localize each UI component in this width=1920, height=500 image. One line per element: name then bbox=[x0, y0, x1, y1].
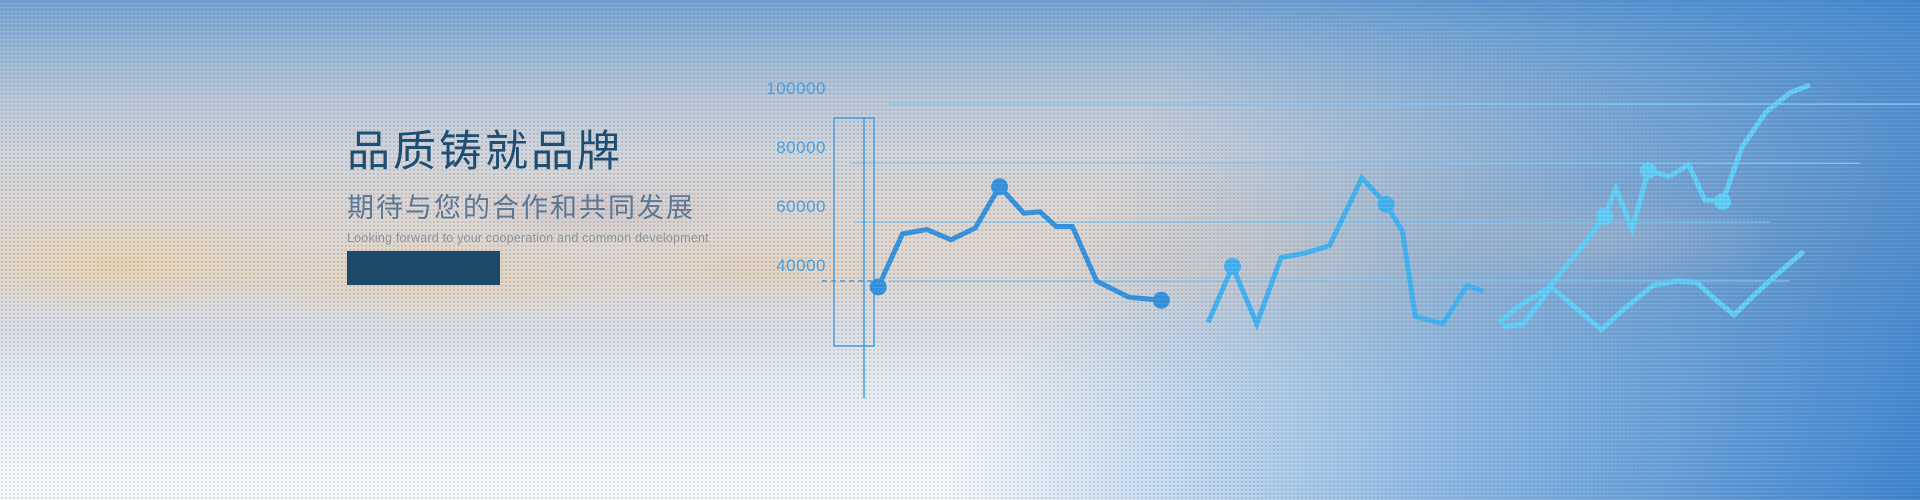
series-1-dark-blue bbox=[878, 187, 1161, 300]
banner-subtitle-en: Looking forward to your cooperation and … bbox=[347, 231, 767, 246]
axis-frame-box bbox=[834, 118, 874, 346]
series-3-light-cyan-upper-marker bbox=[1640, 162, 1657, 179]
series-3-light-cyan-upper-marker bbox=[1596, 208, 1613, 225]
statistics-chart: 100000800006000040000 bbox=[760, 0, 1920, 500]
hero-banner: 100000800006000040000 品质铸就品牌 期待与您的合作和共同发… bbox=[0, 0, 1920, 500]
chart-y-axis-labels: 100000800006000040000 bbox=[766, 79, 826, 275]
series-4-light-cyan-lower bbox=[1503, 252, 1804, 330]
series-1-dark-blue-marker bbox=[870, 278, 887, 295]
series-2-mid-blue-marker bbox=[1378, 196, 1395, 213]
chart-canvas: 100000800006000040000 bbox=[760, 0, 1920, 500]
series-1-dark-blue-marker bbox=[1153, 292, 1170, 309]
y-tick-label: 40000 bbox=[776, 256, 826, 275]
series-3-light-cyan-upper-marker bbox=[1714, 193, 1731, 210]
series-2-mid-blue-marker bbox=[1224, 258, 1241, 275]
y-tick-label: 100000 bbox=[766, 79, 826, 98]
banner-title: 品质铸就品牌 bbox=[347, 128, 767, 176]
y-tick-label: 80000 bbox=[776, 138, 826, 157]
chart-series-group bbox=[870, 85, 1810, 330]
banner-subtitle-cn: 期待与您的合作和共同发展 bbox=[347, 194, 767, 224]
series-2-mid-blue bbox=[1208, 178, 1483, 324]
series-1-dark-blue-marker bbox=[991, 178, 1008, 195]
chart-axis bbox=[834, 118, 874, 398]
banner-copy: 品质铸就品牌 期待与您的合作和共同发展 Looking forward to y… bbox=[347, 128, 767, 246]
banner-cta-button[interactable] bbox=[347, 251, 500, 285]
y-tick-label: 60000 bbox=[776, 197, 826, 216]
